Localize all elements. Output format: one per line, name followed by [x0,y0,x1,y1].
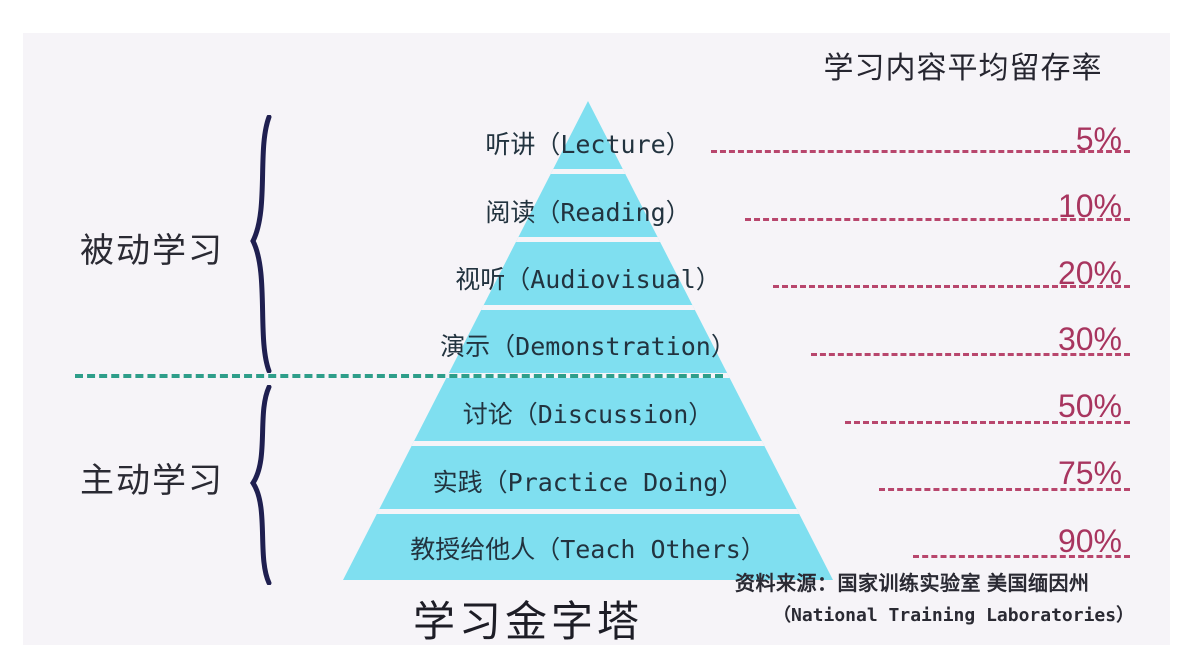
tier-label-0: 听讲（Lecture） [485,125,690,161]
brace-active [243,385,277,585]
pyramid-graphic: 听讲（Lecture） 阅读（Reading） 视听（Audiovisual） … [323,93,853,588]
tier-label-1: 阅读（Reading） [485,193,690,229]
source-line-2: （National Training Laboratories） [773,601,1134,627]
category-label-active: 主动学习 [80,453,224,502]
tier-label-3: 演示（Demonstration） [440,327,736,363]
retention-value-4: 50% [1058,388,1122,425]
retention-rule-6 [913,555,1130,558]
tier-label-2: 视听（Audiovisual） [455,260,721,296]
retention-rule-1 [745,218,1130,221]
retention-value-5: 75% [1058,455,1122,492]
tier-label-6: 教授给他人（Teach Others） [410,530,766,566]
brace-passive [243,115,277,373]
tier-label-5: 实践（Practice Doing） [433,463,744,499]
category-label-passive: 被动学习 [80,223,224,272]
retention-rule-4 [845,421,1130,424]
retention-header: 学习内容平均留存率 [773,43,1153,87]
retention-rule-3 [811,353,1130,356]
learning-pyramid-infographic: 被动学习 主动学习 [23,33,1170,645]
retention-rule-2 [773,285,1130,288]
source-line-1: 资料来源：国家训练实验室 美国缅因州 [735,567,1090,596]
tier-label-4: 讨论（Discussion） [463,395,714,431]
retention-rule-0 [711,150,1130,153]
retention-rule-5 [879,488,1130,491]
page-title: 学习金字塔 [413,588,643,645]
passive-active-divider [75,374,723,378]
